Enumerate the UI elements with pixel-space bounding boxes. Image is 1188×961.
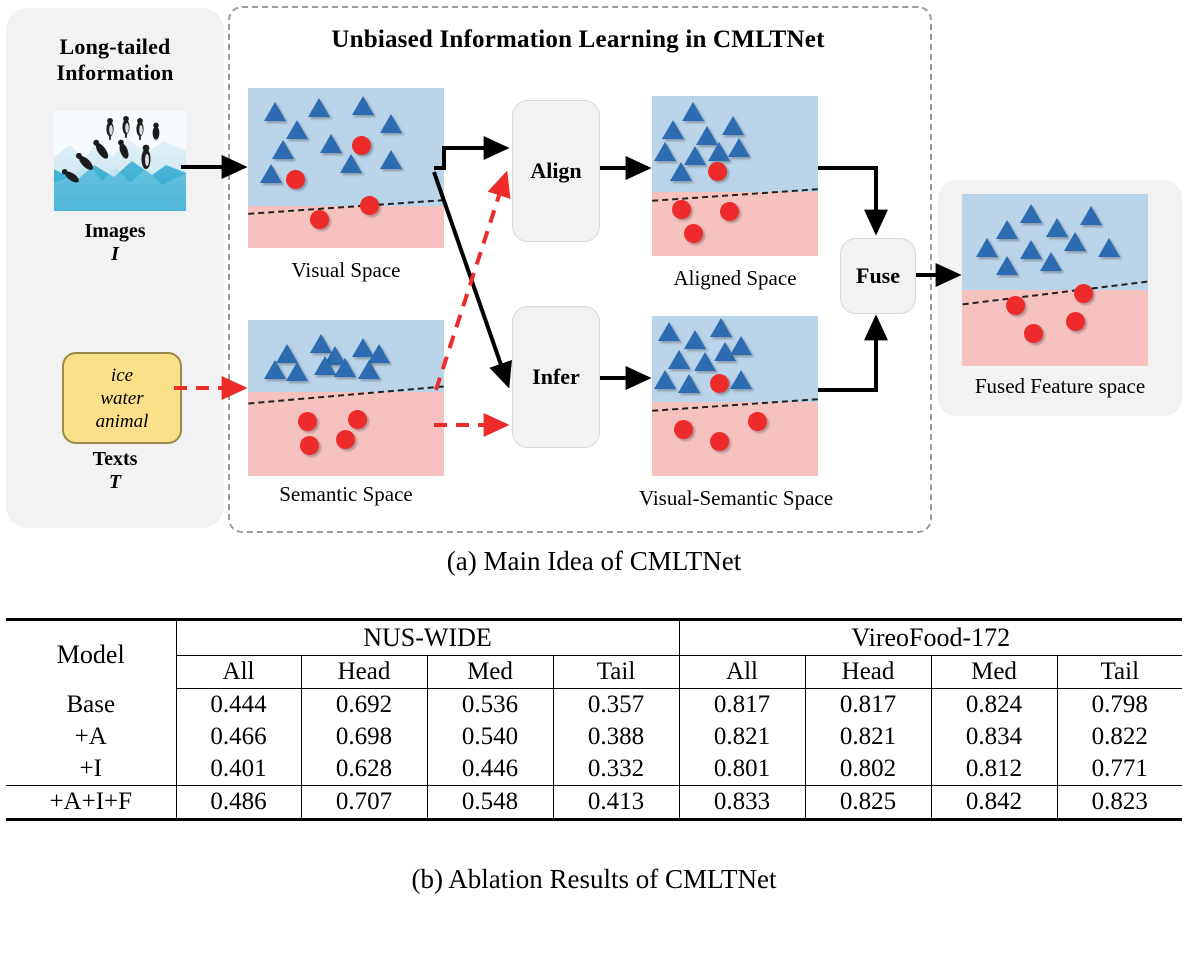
align-operation: Align <box>512 100 600 242</box>
head-marker <box>722 116 744 135</box>
infer-operation: Infer <box>512 306 600 448</box>
head-marker <box>1040 252 1062 271</box>
semantic-space-label: Semantic Space <box>238 482 454 507</box>
main-idea-diagram: Long-tailed Information <box>0 0 1188 600</box>
head-marker <box>654 142 676 161</box>
tail-marker <box>310 210 329 229</box>
head-marker <box>662 120 684 139</box>
head-marker <box>380 150 402 169</box>
table-header-nus-head: Head <box>301 656 427 689</box>
visual-semantic-space-plot <box>652 316 818 476</box>
head-marker <box>1098 238 1120 257</box>
long-tailed-information-panel: Long-tailed Information <box>6 8 224 528</box>
head-marker <box>684 330 706 349</box>
table-cell-value: 0.628 <box>301 753 427 786</box>
fused-space-label: Fused Feature space <box>938 374 1182 399</box>
table-cell-model: +A+I+F <box>6 786 176 820</box>
table-cell-value: 0.824 <box>931 689 1057 722</box>
keyword-animal: animal <box>96 410 149 433</box>
head-marker <box>678 374 700 393</box>
tail-marker <box>1074 284 1093 303</box>
table-cell-value: 0.821 <box>679 721 805 753</box>
tail-marker <box>1006 296 1025 315</box>
table-cell-value: 0.771 <box>1057 753 1182 786</box>
table-cell-model: +A <box>6 721 176 753</box>
ablation-table-wrap: Model NUS-WIDE VireoFood-172 All Head Me… <box>6 618 1182 821</box>
table-cell-value: 0.540 <box>427 721 553 753</box>
table-cell-value: 0.536 <box>427 689 553 722</box>
head-marker <box>358 360 380 379</box>
head-marker <box>286 362 308 381</box>
table-cell-model: +I <box>6 753 176 786</box>
table-cell-value: 0.444 <box>176 689 301 722</box>
table-cell-value: 0.446 <box>427 753 553 786</box>
head-marker <box>352 96 374 115</box>
table-cell-value: 0.548 <box>427 786 553 820</box>
table-cell-model: Base <box>6 689 176 722</box>
head-marker <box>314 356 336 375</box>
table-cell-value: 0.413 <box>553 786 679 820</box>
semantic-space-plot <box>248 320 444 476</box>
table-cell-value: 0.823 <box>1057 786 1182 820</box>
table-cell-value: 0.802 <box>805 753 931 786</box>
tail-marker <box>710 374 729 393</box>
tail-marker <box>300 436 319 455</box>
title-line-2: Information <box>6 60 224 86</box>
table-row: +A0.4660.6980.5400.3880.8210.8210.8340.8… <box>6 721 1182 753</box>
table-row: +I0.4010.6280.4460.3320.8010.8020.8120.7… <box>6 753 1182 786</box>
head-marker <box>1080 206 1102 225</box>
figure-a-caption: (a) Main Idea of CMLTNet <box>0 546 1188 577</box>
head-marker <box>340 154 362 173</box>
visual-space-label: Visual Space <box>248 258 444 283</box>
fuse-label: Fuse <box>856 263 900 289</box>
tail-marker <box>348 410 367 429</box>
head-marker <box>264 360 286 379</box>
tail-marker <box>748 412 767 431</box>
table-cell-value: 0.821 <box>805 721 931 753</box>
head-marker <box>654 370 676 389</box>
head-marker <box>1020 204 1042 223</box>
infer-label: Infer <box>532 364 580 390</box>
keyword-water: water <box>100 387 143 410</box>
title-line-1: Long-tailed <box>6 34 224 60</box>
ablation-results-table: Model NUS-WIDE VireoFood-172 All Head Me… <box>6 618 1182 821</box>
head-marker <box>308 98 330 117</box>
head-marker <box>334 358 356 377</box>
table-cell-value: 0.817 <box>679 689 805 722</box>
images-symbol: I <box>6 243 224 266</box>
head-marker <box>320 134 342 153</box>
head-marker <box>380 114 402 133</box>
head-marker <box>710 318 732 337</box>
aligned-space-plot <box>652 96 818 256</box>
tail-marker <box>674 420 693 439</box>
table-header-vf-head: Head <box>805 656 931 689</box>
table-header-dataset-1: NUS-WIDE <box>176 620 679 656</box>
tail-marker <box>672 200 691 219</box>
tail-marker <box>1024 324 1043 343</box>
head-marker <box>272 140 294 159</box>
table-cell-value: 0.401 <box>176 753 301 786</box>
fused-space-plot <box>962 194 1148 366</box>
table-cell-value: 0.801 <box>679 753 805 786</box>
table-cell-value: 0.833 <box>679 786 805 820</box>
align-label: Align <box>530 158 581 184</box>
visual-space-plot <box>248 88 444 248</box>
tail-marker <box>684 224 703 243</box>
aligned-space-label: Aligned Space <box>628 266 842 291</box>
head-marker <box>1020 240 1042 259</box>
table-cell-value: 0.812 <box>931 753 1057 786</box>
tail-marker <box>336 430 355 449</box>
tail-marker <box>710 432 729 451</box>
table-cell-value: 0.357 <box>553 689 679 722</box>
penguin-photo <box>54 111 186 211</box>
tail-marker <box>360 196 379 215</box>
head-marker <box>694 352 716 371</box>
table-cell-value: 0.692 <box>301 689 427 722</box>
table-cell-value: 0.698 <box>301 721 427 753</box>
table-cell-value: 0.466 <box>176 721 301 753</box>
head-marker <box>286 120 308 139</box>
table-row: +A+I+F0.4860.7070.5480.4130.8330.8250.84… <box>6 786 1182 820</box>
table-header-nus-tail: Tail <box>553 656 679 689</box>
table-cell-value: 0.825 <box>805 786 931 820</box>
table-header-nus-all: All <box>176 656 301 689</box>
table-cell-value: 0.707 <box>301 786 427 820</box>
table-cell-value: 0.388 <box>553 721 679 753</box>
head-marker <box>670 162 692 181</box>
tail-marker <box>720 202 739 221</box>
table-header-nus-med: Med <box>427 656 553 689</box>
table-row: Base0.4440.6920.5360.3570.8170.8170.8240… <box>6 689 1182 722</box>
tail-marker <box>708 162 727 181</box>
tail-marker <box>286 170 305 189</box>
figure-b-caption: (b) Ablation Results of CMLTNet <box>0 864 1188 895</box>
tail-marker <box>1066 312 1085 331</box>
table-header-vf-tail: Tail <box>1057 656 1182 689</box>
head-marker <box>996 220 1018 239</box>
keyword-ice: ice <box>111 364 133 387</box>
texts-label: Texts <box>6 448 224 471</box>
table-cell-value: 0.486 <box>176 786 301 820</box>
table-header-vf-med: Med <box>931 656 1057 689</box>
head-marker <box>260 164 282 183</box>
diagram-title: Unbiased Information Learning in CMLTNet <box>228 26 928 54</box>
table-cell-value: 0.817 <box>805 689 931 722</box>
table-cell-value: 0.798 <box>1057 689 1182 722</box>
head-marker <box>658 322 680 341</box>
head-marker <box>996 256 1018 275</box>
table-cell-value: 0.332 <box>553 753 679 786</box>
head-marker <box>976 238 998 257</box>
tail-marker <box>352 136 371 155</box>
table-header-dataset-2: VireoFood-172 <box>679 620 1182 656</box>
visual-semantic-space-label: Visual-Semantic Space <box>600 486 872 511</box>
images-label: Images <box>6 220 224 243</box>
table-cell-value: 0.834 <box>931 721 1057 753</box>
tail-region <box>652 402 818 476</box>
head-marker <box>682 102 704 121</box>
head-marker <box>264 102 286 121</box>
head-marker <box>730 370 752 389</box>
head-marker <box>1064 232 1086 251</box>
head-marker <box>708 142 730 161</box>
long-tailed-information-title: Long-tailed Information <box>6 34 224 86</box>
head-marker <box>728 138 750 157</box>
head-marker <box>730 336 752 355</box>
table-cell-value: 0.822 <box>1057 721 1182 753</box>
table-header-vf-all: All <box>679 656 805 689</box>
table-cell-value: 0.842 <box>931 786 1057 820</box>
ablation-table-body: Base0.4440.6920.5360.3570.8170.8170.8240… <box>6 689 1182 820</box>
fuse-operation: Fuse <box>840 238 916 314</box>
table-header-model: Model <box>6 620 176 689</box>
tail-marker <box>298 412 317 431</box>
text-keywords-box: ice water animal <box>62 352 182 444</box>
texts-symbol: T <box>6 471 224 494</box>
head-marker <box>668 350 690 369</box>
